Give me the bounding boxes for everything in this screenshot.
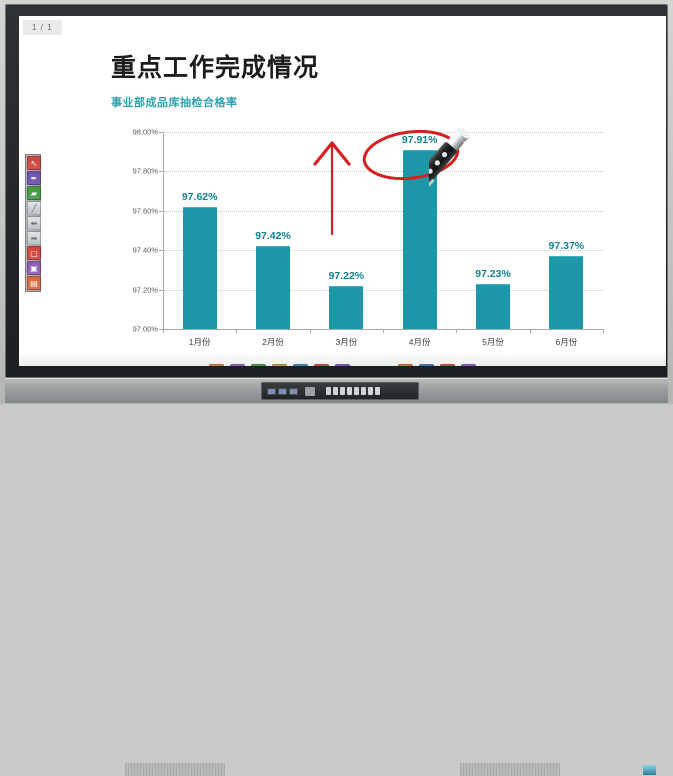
color-icon: ◓ xyxy=(398,364,413,366)
format-icon: ▦ xyxy=(293,364,308,366)
tools-icon: ▮ xyxy=(314,364,329,366)
chart-bar-rect xyxy=(183,207,217,329)
chart-bar-rect xyxy=(403,150,437,329)
device-badge xyxy=(643,765,656,775)
edit-button[interactable]: ✎编辑 xyxy=(229,364,247,366)
exit-button[interactable]: ⇱退出 xyxy=(460,364,478,366)
hdmi-port[interactable] xyxy=(289,388,298,395)
chart-y-tick-mark xyxy=(159,171,163,172)
color-button[interactable]: ◓颜色 xyxy=(397,364,415,366)
chart-y-tick-label: 97.20% xyxy=(133,285,158,294)
chart-bar-rect xyxy=(329,286,363,329)
chart-gridline xyxy=(163,250,603,251)
chart-x-tick-mark xyxy=(383,329,384,333)
channel-down-button[interactable] xyxy=(361,387,366,395)
chart-value-label: 97.42% xyxy=(255,230,291,242)
bottom-toolbar[interactable]: ▭文件✎编辑◉视图▤插入▦格式▮工具✒绘图≡线宽⋮线型◓颜色▥透明度?帮助⇱退出 xyxy=(208,364,478,366)
chart-x-tick-label: 2月份 xyxy=(262,336,284,348)
chart-x-tick-label: 6月份 xyxy=(555,336,577,348)
view-button[interactable]: ◉视图 xyxy=(250,364,268,366)
chart-x-tick-mark xyxy=(456,329,457,333)
left-tool-rail[interactable]: ↖✒▰╱⬅➡▢▣▤ xyxy=(25,154,41,292)
chart-bar xyxy=(476,132,510,329)
page-title: 重点工作完成情况 xyxy=(111,48,319,84)
line-width-button[interactable]: ≡线宽 xyxy=(355,364,373,366)
screen-surface[interactable]: 1 / 1 重点工作完成情况 事业部成品库抽检合格率 97.00%97.20%9… xyxy=(19,16,666,366)
chart-y-tick-mark xyxy=(159,132,163,133)
redo-tool-icon[interactable]: ➡ xyxy=(27,231,41,245)
thin-pen-tool-icon[interactable]: ╱ xyxy=(27,201,41,215)
undo-tool-icon[interactable]: ⬅ xyxy=(27,216,41,230)
chart-gridline xyxy=(163,171,603,172)
speaker-grille-left xyxy=(125,763,225,776)
transparency-icon: ▥ xyxy=(419,364,434,366)
chart-y-tick-label: 98.00% xyxy=(133,128,158,137)
chart-x-tick-mark xyxy=(236,329,237,333)
page-indicator: 1 / 1 xyxy=(23,20,62,35)
chart-y-tick-mark xyxy=(159,290,163,291)
volume-up-button[interactable] xyxy=(354,387,359,395)
power-button[interactable] xyxy=(326,387,331,395)
chart-y-tick-label: 97.80% xyxy=(133,167,158,176)
chart-gridline xyxy=(163,132,603,133)
chart-gridline xyxy=(163,290,603,291)
home-button[interactable] xyxy=(375,387,380,395)
edit-icon: ✎ xyxy=(230,364,245,366)
chart-gridline xyxy=(163,211,603,212)
chart-x-tick-label: 5月份 xyxy=(482,336,504,348)
transparency-button[interactable]: ▥透明度 xyxy=(418,364,436,366)
chart-bar-rect xyxy=(549,256,583,329)
bar-chart: 97.00%97.20%97.40%97.60%97.80%98.00%97.6… xyxy=(111,124,611,354)
line-style-icon: ⋮ xyxy=(377,364,392,366)
chart-y-tick-label: 97.00% xyxy=(133,325,158,334)
page-subtitle: 事业部成品库抽检合格率 xyxy=(111,94,238,110)
chart-x-tick-label: 4月份 xyxy=(409,336,431,348)
exit-icon: ⇱ xyxy=(461,364,476,366)
channel-up-button[interactable] xyxy=(368,387,373,395)
menu-button[interactable] xyxy=(340,387,345,395)
file-icon: ▭ xyxy=(209,364,224,366)
speaker-grille-right xyxy=(460,763,560,776)
chart-plot-area: 97.00%97.20%97.40%97.60%97.80%98.00%97.6… xyxy=(163,132,603,329)
help-icon: ? xyxy=(440,364,455,366)
vga-port[interactable] xyxy=(278,388,287,395)
keyboard-tool-icon[interactable]: ▤ xyxy=(27,276,41,290)
usb-port[interactable] xyxy=(267,388,276,395)
display-bezel: 1 / 1 重点工作完成情况 事业部成品库抽检合格率 97.00%97.20%9… xyxy=(5,4,668,378)
chart-bar xyxy=(549,132,583,329)
brand-logo xyxy=(305,387,315,396)
hardware-button-row[interactable] xyxy=(326,387,380,395)
chart-bar-rect xyxy=(256,246,290,329)
chart-bar xyxy=(183,132,217,329)
chart-value-label: 97.91% xyxy=(402,134,438,146)
chart-value-label: 97.37% xyxy=(549,240,585,252)
view-icon: ◉ xyxy=(251,364,266,366)
select-arrow-tool-icon[interactable]: ↖ xyxy=(27,156,41,170)
volume-down-button[interactable] xyxy=(347,387,352,395)
file-button[interactable]: ▭文件 xyxy=(208,364,226,366)
insert-icon: ▤ xyxy=(272,364,287,366)
chart-bar-rect xyxy=(476,284,510,329)
chart-bar xyxy=(403,132,437,329)
chart-x-tick-mark xyxy=(310,329,311,333)
help-button[interactable]: ?帮助 xyxy=(439,364,457,366)
tools-button[interactable]: ▮工具 xyxy=(313,364,331,366)
chart-x-tick-label: 3月份 xyxy=(335,336,357,348)
io-control-panel[interactable] xyxy=(261,382,419,400)
line-style-button[interactable]: ⋮线型 xyxy=(376,364,394,366)
image-tool-icon[interactable]: ▣ xyxy=(27,261,41,275)
chart-y-tick-mark xyxy=(159,250,163,251)
highlighter-tool-icon[interactable]: ▰ xyxy=(27,186,41,200)
draw-icon: ✒ xyxy=(335,364,350,366)
interactive-whiteboard-device: 1 / 1 重点工作完成情况 事业部成品库抽检合格率 97.00%97.20%9… xyxy=(0,0,673,404)
chart-x-tick-mark xyxy=(163,329,164,333)
line-width-icon: ≡ xyxy=(356,364,371,366)
eraser-tool-icon[interactable]: ▢ xyxy=(27,246,41,260)
format-button[interactable]: ▦格式 xyxy=(292,364,310,366)
chart-value-label: 97.23% xyxy=(475,268,511,280)
source-button[interactable] xyxy=(333,387,338,395)
chart-x-tick-mark xyxy=(530,329,531,333)
pen-tool-icon[interactable]: ✒ xyxy=(27,171,41,185)
chart-x-tick-mark xyxy=(603,329,604,333)
chart-bar xyxy=(329,132,363,329)
chart-y-tick-label: 97.60% xyxy=(133,206,158,215)
insert-button[interactable]: ▤插入 xyxy=(271,364,289,366)
draw-button[interactable]: ✒绘图 xyxy=(334,364,352,366)
chart-x-tick-label: 1月份 xyxy=(189,336,211,348)
chart-value-label: 97.22% xyxy=(329,270,365,282)
chart-y-tick-label: 97.40% xyxy=(133,246,158,255)
chart-y-tick-mark xyxy=(159,211,163,212)
chart-value-label: 97.62% xyxy=(182,191,218,203)
